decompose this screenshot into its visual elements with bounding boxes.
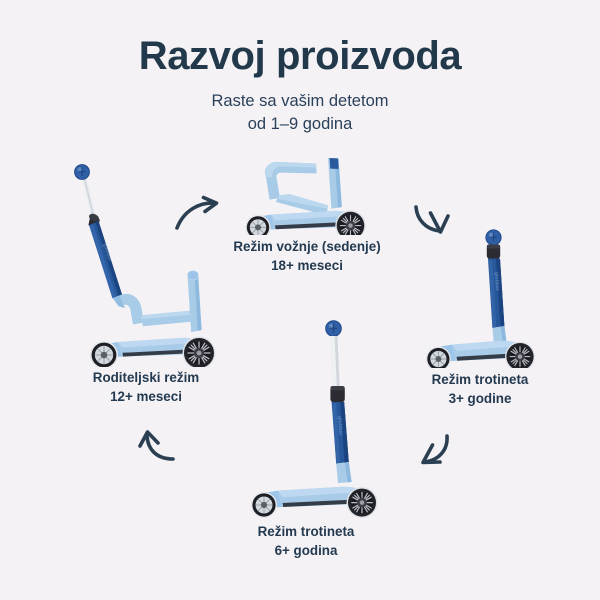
page-title: Razvoj proizvoda <box>0 34 600 79</box>
arrow-rideon-to-scooter3 <box>410 196 458 244</box>
subtitle: Raste sa vašim detetom od 1–9 godina <box>0 90 600 137</box>
scooter-seated-ride-on-icon <box>232 155 382 235</box>
infographic-canvas: Razvoj proizvoda Raste sa vašim detetom … <box>0 0 600 600</box>
scooter-short-stem-icon: globber <box>404 228 556 368</box>
stage-age-scooter-mode-3: 3+ godine <box>391 389 569 408</box>
arrow-up-right-icon <box>172 192 228 238</box>
caption-scooter-mode-6: Režim trotineta 6+ godina <box>217 522 395 561</box>
arrow-scooter3-to-scooter6 <box>405 428 455 476</box>
stage-label-ride-on-mode: Režim vožnje (sedenje) <box>233 239 380 254</box>
arrow-down-left-icon <box>405 428 455 476</box>
scooter-tall-stem-icon: globber <box>222 312 390 520</box>
stage-ride-on-mode: Režim vožnje (sedenje) 18+ meseci <box>232 155 382 235</box>
stage-label-scooter-mode-3: Režim trotineta <box>432 372 529 387</box>
arrow-parental-to-rideon <box>172 192 228 238</box>
stage-age-scooter-mode-6: 6+ godina <box>217 541 395 560</box>
arrow-down-right-icon <box>410 196 458 244</box>
caption-ride-on-mode: Režim vožnje (sedenje) 18+ meseci <box>206 237 408 276</box>
stage-scooter-mode-6: globber <box>222 312 390 520</box>
subtitle-line-1: Raste sa vašim detetom <box>212 92 389 110</box>
stage-parental-mode: globber <box>62 152 230 367</box>
caption-parental-mode: Roditeljski režim 12+ meseci <box>56 368 236 407</box>
arrow-up-left-icon <box>135 424 185 472</box>
stage-age-ride-on-mode: 18+ meseci <box>206 256 408 275</box>
stage-scooter-mode-3: globber <box>404 228 556 368</box>
subtitle-line-2: od 1–9 godina <box>0 113 600 136</box>
stage-label-scooter-mode-6: Režim trotineta <box>258 524 355 539</box>
arrow-scooter6-to-parental <box>135 424 185 472</box>
scooter-parental-handle-icon: globber <box>62 152 230 367</box>
header: Razvoj proizvoda Raste sa vašim detetom … <box>0 34 600 137</box>
stage-age-parental-mode: 12+ meseci <box>56 387 236 406</box>
caption-scooter-mode-3: Režim trotineta 3+ godine <box>391 370 569 409</box>
stage-label-parental-mode: Roditeljski režim <box>93 370 199 385</box>
